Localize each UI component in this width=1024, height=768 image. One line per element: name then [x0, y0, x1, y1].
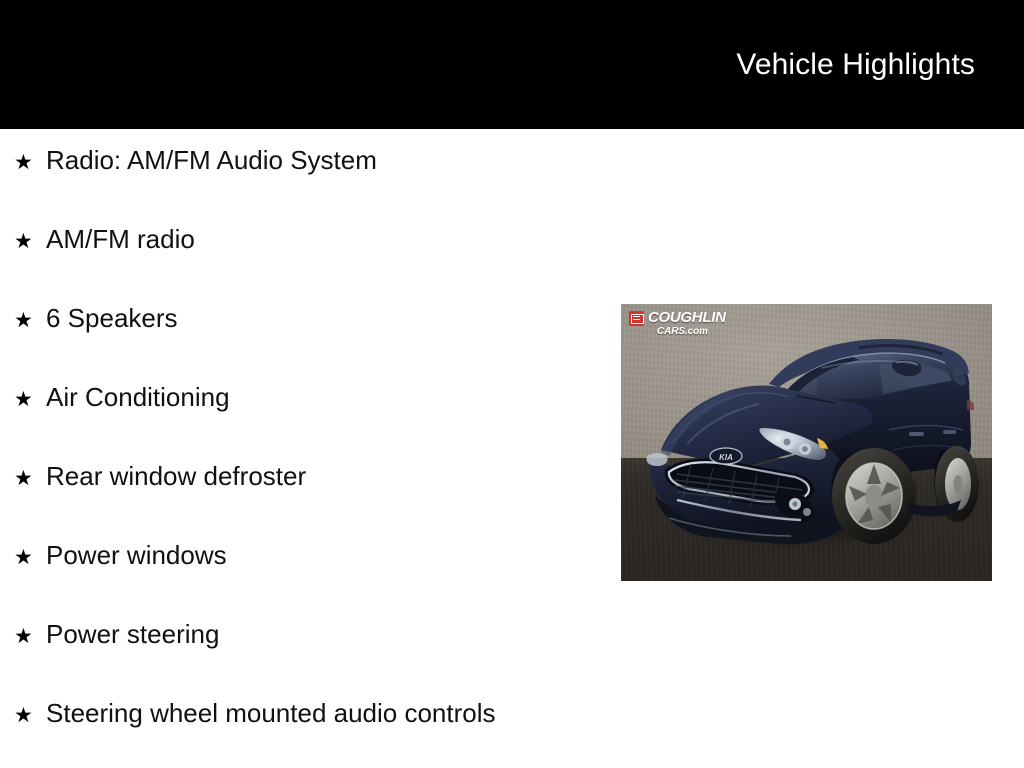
star-bullet-icon: ★	[14, 389, 46, 410]
highlight-label: Power windows	[46, 542, 227, 568]
star-bullet-icon: ★	[14, 705, 46, 726]
list-item: ★ Air Conditioning	[0, 384, 620, 463]
watermark-text: COUGHLIN CARS.com	[648, 310, 726, 337]
highlight-label: Power steering	[46, 621, 219, 647]
vehicle-highlights-list: ★ Radio: AM/FM Audio System ★ AM/FM radi…	[0, 147, 620, 768]
highlight-label: Rear window defroster	[46, 463, 306, 489]
highlight-label: 6 Speakers	[46, 305, 178, 331]
watermark-brand: COUGHLIN	[648, 310, 726, 325]
highlight-label: Radio: AM/FM Audio System	[46, 147, 377, 173]
page-title: Vehicle Highlights	[736, 48, 975, 82]
star-bullet-icon: ★	[14, 231, 46, 252]
dealer-watermark: COUGHLIN CARS.com	[629, 310, 726, 337]
vehicle-illustration: KIA	[621, 304, 992, 581]
header-banner: Vehicle Highlights	[0, 0, 1024, 129]
star-bullet-icon: ★	[14, 152, 46, 173]
list-item: ★ Power steering	[0, 621, 620, 700]
star-bullet-icon: ★	[14, 468, 46, 489]
list-item: ★ 6 Speakers	[0, 305, 620, 384]
list-item: ★ AM/FM radio	[0, 226, 620, 305]
highlight-label: Steering wheel mounted audio controls	[46, 700, 496, 726]
svg-text:KIA: KIA	[719, 453, 733, 462]
list-item: ★ Power windows	[0, 542, 620, 621]
star-bullet-icon: ★	[14, 310, 46, 331]
star-bullet-icon: ★	[14, 547, 46, 568]
vehicle-photo: KIA	[621, 304, 992, 581]
highlight-label: Air Conditioning	[46, 384, 230, 410]
list-item: ★ Radio: AM/FM Audio System	[0, 147, 620, 226]
star-bullet-icon: ★	[14, 626, 46, 647]
watermark-suffix: CARS.com	[657, 327, 726, 337]
list-item: ★ Rear window defroster	[0, 463, 620, 542]
highlight-label: AM/FM radio	[46, 226, 195, 252]
coughlin-logo-icon	[629, 311, 644, 326]
list-item: ★ Steering wheel mounted audio controls	[0, 700, 620, 768]
